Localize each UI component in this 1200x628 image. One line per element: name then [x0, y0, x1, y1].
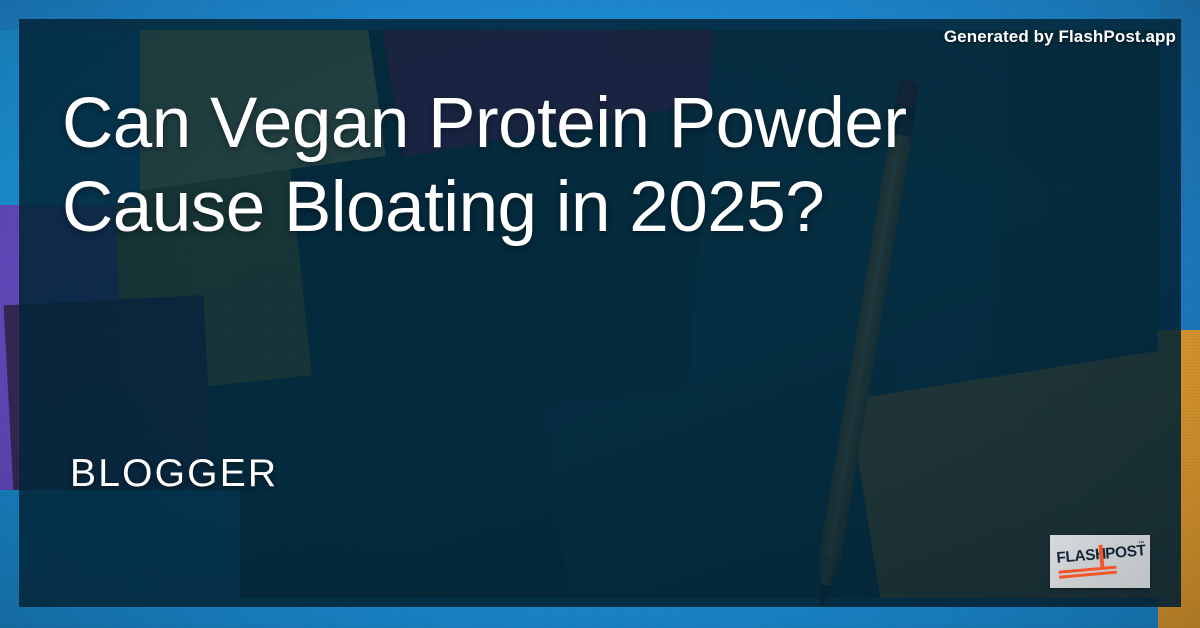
category-label: BLOGGER: [70, 452, 278, 496]
share-card-canvas: Generated by FlashPost.app Can Vegan Pro…: [0, 0, 1200, 628]
attribution-label: Generated by FlashPost.app: [944, 27, 1176, 47]
flashpost-logo-icon: FLASH POST ™: [1056, 542, 1147, 584]
flashpost-logo-badge: FLASH POST ™: [1050, 535, 1150, 588]
page-title: Can Vegan Protein Powder Cause Bloating …: [62, 82, 1022, 250]
logo-trademark-symbol: ™: [1138, 541, 1145, 548]
